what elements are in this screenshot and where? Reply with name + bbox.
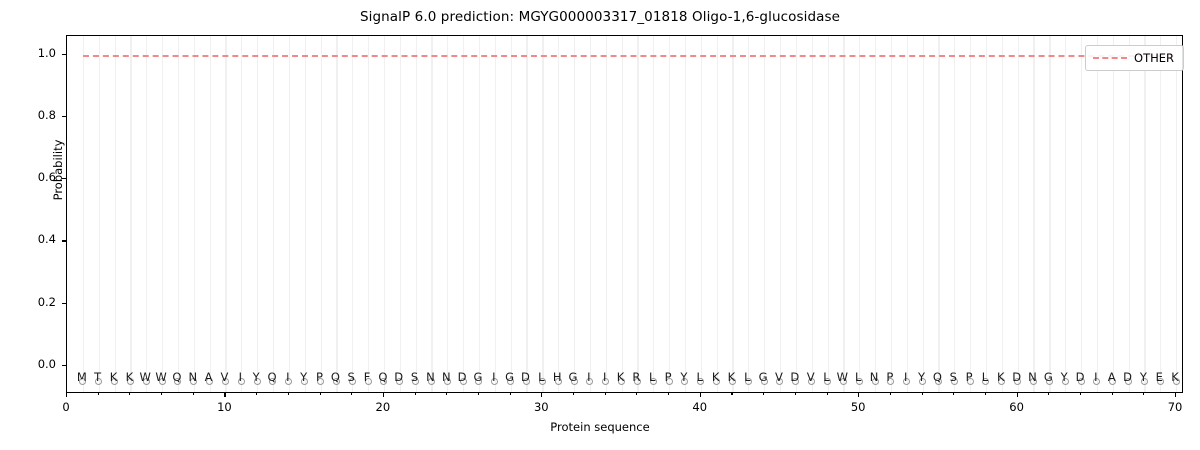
- residue-letter: W: [837, 372, 848, 384]
- gridline: [1018, 36, 1019, 392]
- gridline: [431, 36, 432, 392]
- gridline: [479, 36, 480, 392]
- x-tick-mark-minor: [129, 393, 130, 395]
- gridline: [780, 36, 781, 392]
- y-tick-label: 0.4: [18, 232, 56, 246]
- plot-inner: [67, 36, 1182, 392]
- gridline: [321, 36, 322, 392]
- residue-letter: W: [155, 372, 166, 384]
- residue-letter: L: [982, 372, 988, 384]
- residue-letter: A: [1108, 372, 1116, 384]
- gridline: [511, 36, 512, 392]
- residue-letter: N: [188, 372, 197, 384]
- gridline: [859, 36, 860, 392]
- gridline: [622, 36, 623, 392]
- x-tick-mark-minor: [1080, 393, 1081, 395]
- residue-letter: L: [855, 372, 861, 384]
- gridline: [146, 36, 147, 392]
- x-tick-label: 40: [692, 400, 707, 414]
- x-tick-mark: [224, 393, 225, 397]
- gridline: [812, 36, 813, 392]
- residue-letter: M: [77, 372, 87, 384]
- gridline: [923, 36, 924, 392]
- gridline: [701, 36, 702, 392]
- x-tick-label: 20: [376, 400, 391, 414]
- x-tick-mark-minor: [795, 393, 796, 395]
- y-tick-mark: [62, 240, 66, 241]
- residue-letter: T: [94, 372, 101, 384]
- x-tick-mark-minor: [668, 393, 669, 395]
- gridline: [954, 36, 955, 392]
- gridline: [1097, 36, 1098, 392]
- gridline: [241, 36, 242, 392]
- residue-letter: K: [728, 372, 736, 384]
- residue-letter: L: [744, 372, 750, 384]
- x-tick-mark-minor: [636, 393, 637, 395]
- gridline: [162, 36, 163, 392]
- y-tick-label: 0.2: [18, 295, 56, 309]
- gridline: [194, 36, 195, 392]
- gridline: [178, 36, 179, 392]
- gridline: [558, 36, 559, 392]
- x-tick-label: 50: [851, 400, 866, 414]
- residue-letter: D: [1012, 372, 1021, 384]
- residue-letter: K: [712, 372, 720, 384]
- gridline: [1144, 36, 1145, 392]
- gridline: [986, 36, 987, 392]
- gridline: [130, 36, 131, 392]
- gridline: [352, 36, 353, 392]
- residue-letter: I: [904, 372, 907, 384]
- residue-letter: G: [505, 372, 514, 384]
- gridline: [225, 36, 226, 392]
- gridline: [843, 36, 844, 392]
- gridline: [590, 36, 591, 392]
- residue-letter: R: [632, 372, 640, 384]
- x-tick-mark-minor: [605, 393, 606, 395]
- x-tick-mark-minor: [161, 393, 162, 395]
- gridline: [637, 36, 638, 392]
- residue-letter: L: [823, 372, 829, 384]
- x-tick-mark-minor: [763, 393, 764, 395]
- residue-letter: P: [886, 372, 893, 384]
- gridline: [669, 36, 670, 392]
- gridline: [717, 36, 718, 392]
- legend-swatch-other: [1093, 57, 1127, 59]
- x-tick-mark-minor: [1143, 393, 1144, 395]
- plot-area: [66, 35, 1183, 393]
- residue-letter: V: [775, 372, 783, 384]
- x-tick-mark: [383, 393, 384, 397]
- residue-letter: Y: [1061, 372, 1068, 384]
- residue-letter: H: [553, 372, 562, 384]
- gridline: [891, 36, 892, 392]
- residue-letter: I: [239, 372, 242, 384]
- x-tick-mark-minor: [256, 393, 257, 395]
- x-tick-mark-minor: [1112, 393, 1113, 395]
- residue-letter: L: [697, 372, 703, 384]
- residue-letter: L: [538, 372, 544, 384]
- residue-letter: I: [587, 372, 590, 384]
- x-tick-mark: [1175, 393, 1176, 397]
- x-tick-label: 30: [534, 400, 549, 414]
- residue-letter: I: [286, 372, 289, 384]
- gridline: [574, 36, 575, 392]
- residue-letter: G: [759, 372, 768, 384]
- gridline: [606, 36, 607, 392]
- residue-letter: D: [521, 372, 530, 384]
- x-tick-mark-minor: [320, 393, 321, 395]
- y-tick-mark: [62, 365, 66, 366]
- residue-letter: Q: [378, 372, 387, 384]
- y-tick-mark: [62, 303, 66, 304]
- residue-letter: S: [411, 372, 418, 384]
- chart-title: SignalP 6.0 prediction: MGYG000003317_01…: [0, 9, 1200, 25]
- residue-letter: D: [790, 372, 799, 384]
- x-tick-mark: [541, 393, 542, 397]
- x-tick-mark-minor: [193, 393, 194, 395]
- y-axis-label: Probability: [51, 110, 65, 230]
- residue-letter: D: [458, 372, 467, 384]
- residue-letter: I: [492, 372, 495, 384]
- residue-letter: Y: [300, 372, 307, 384]
- gridline: [970, 36, 971, 392]
- gridline: [99, 36, 100, 392]
- gridline: [875, 36, 876, 392]
- x-tick-mark-minor: [446, 393, 447, 395]
- x-tick-mark-minor: [415, 393, 416, 395]
- gridline: [1049, 36, 1050, 392]
- gridline: [1160, 36, 1161, 392]
- x-tick-mark-minor: [573, 393, 574, 395]
- x-tick-mark: [66, 393, 67, 397]
- gridline: [764, 36, 765, 392]
- residue-letter: F: [364, 372, 371, 384]
- residue-letter: Y: [918, 372, 925, 384]
- residue-letter: L: [649, 372, 655, 384]
- gridline: [1033, 36, 1034, 392]
- residue-letter: W: [140, 372, 151, 384]
- residue-letter: A: [205, 372, 213, 384]
- x-tick-mark-minor: [510, 393, 511, 395]
- gridline: [1176, 36, 1177, 392]
- x-tick-label: 0: [62, 400, 69, 414]
- legend[interactable]: OTHER: [1085, 45, 1184, 71]
- gridline: [83, 36, 84, 392]
- x-tick-mark-minor: [478, 393, 479, 395]
- residue-letter: Q: [267, 372, 276, 384]
- x-tick-mark: [700, 393, 701, 397]
- residue-letter: V: [807, 372, 815, 384]
- gridline: [907, 36, 908, 392]
- gridline: [685, 36, 686, 392]
- x-tick-mark: [858, 393, 859, 397]
- residue-letter: Y: [253, 372, 260, 384]
- residue-letter: G: [569, 372, 578, 384]
- gridline: [542, 36, 543, 392]
- x-tick-mark-minor: [922, 393, 923, 395]
- residue-letter: D: [1123, 372, 1132, 384]
- signalp-prediction-figure: SignalP 6.0 prediction: MGYG000003317_01…: [0, 0, 1200, 450]
- gridline: [828, 36, 829, 392]
- gridline: [732, 36, 733, 392]
- residue-letter: I: [603, 372, 606, 384]
- gridline: [400, 36, 401, 392]
- residue-letter: D: [1076, 372, 1085, 384]
- residue-letter: K: [1171, 372, 1179, 384]
- gridline: [447, 36, 448, 392]
- gridline: [796, 36, 797, 392]
- x-tick-mark-minor: [985, 393, 986, 395]
- residue-letter: I: [1094, 372, 1097, 384]
- residue-letter: Q: [172, 372, 181, 384]
- residue-letter: D: [394, 372, 403, 384]
- residue-letter: G: [1044, 372, 1053, 384]
- gridline: [257, 36, 258, 392]
- residue-letter: N: [442, 372, 451, 384]
- x-tick-mark: [1017, 393, 1018, 397]
- residue-letter: S: [348, 372, 355, 384]
- gridline: [1002, 36, 1003, 392]
- gridline: [1065, 36, 1066, 392]
- gridline: [653, 36, 654, 392]
- residue-letter: N: [426, 372, 435, 384]
- gridline: [938, 36, 939, 392]
- residue-letter: S: [950, 372, 957, 384]
- gridline: [416, 36, 417, 392]
- residue-letter: E: [1156, 372, 1163, 384]
- x-tick-mark-minor: [890, 393, 891, 395]
- gridline: [289, 36, 290, 392]
- residue-letter: Y: [1140, 372, 1147, 384]
- y-tick-label: 0.0: [18, 357, 56, 371]
- series-line-other: [83, 55, 1174, 57]
- residue-letter: Q: [933, 372, 942, 384]
- gridline: [115, 36, 116, 392]
- gridline: [273, 36, 274, 392]
- gridline: [1129, 36, 1130, 392]
- x-tick-label: 10: [217, 400, 232, 414]
- residue-letter: K: [126, 372, 134, 384]
- residue-letter: G: [473, 372, 482, 384]
- y-tick-label: 1.0: [18, 46, 56, 60]
- gridline: [748, 36, 749, 392]
- gridline: [1081, 36, 1082, 392]
- residue-letter: P: [316, 372, 323, 384]
- residue-letter: Y: [680, 372, 687, 384]
- x-tick-label: 60: [1009, 400, 1024, 414]
- residue-letter: K: [997, 372, 1005, 384]
- x-tick-mark-minor: [351, 393, 352, 395]
- x-tick-mark-minor: [288, 393, 289, 395]
- gridline: [1113, 36, 1114, 392]
- residue-letter: Q: [331, 372, 340, 384]
- residue-letter: P: [966, 372, 973, 384]
- x-axis-label: Protein sequence: [0, 420, 1200, 434]
- x-tick-mark-minor: [731, 393, 732, 395]
- residue-letter: N: [1028, 372, 1037, 384]
- gridline: [526, 36, 527, 392]
- residue-letter: P: [665, 372, 672, 384]
- residue-letter: K: [617, 372, 625, 384]
- gridline: [495, 36, 496, 392]
- residue-letter: N: [870, 372, 879, 384]
- gridline: [463, 36, 464, 392]
- gridline: [210, 36, 211, 392]
- x-tick-label: 70: [1168, 400, 1183, 414]
- gridline: [384, 36, 385, 392]
- gridline: [336, 36, 337, 392]
- residue-letter: V: [221, 372, 229, 384]
- x-tick-mark-minor: [827, 393, 828, 395]
- gridline: [305, 36, 306, 392]
- x-tick-mark-minor: [953, 393, 954, 395]
- y-tick-mark: [62, 54, 66, 55]
- legend-label-other: OTHER: [1134, 51, 1174, 65]
- x-tick-mark-minor: [98, 393, 99, 395]
- residue-letter: K: [110, 372, 118, 384]
- x-tick-mark-minor: [1048, 393, 1049, 395]
- gridline: [368, 36, 369, 392]
